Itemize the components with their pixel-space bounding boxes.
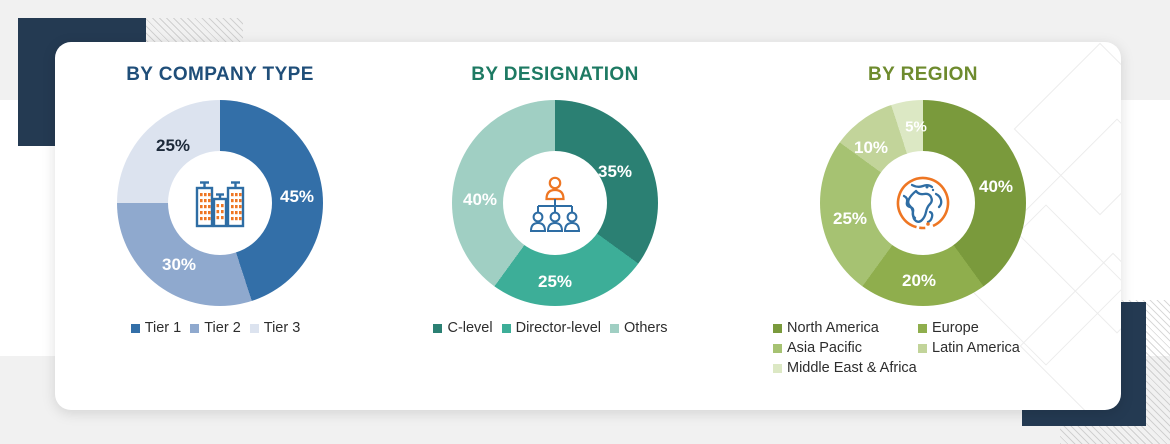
- donut-center-region: [871, 151, 975, 255]
- legend-item-tier1[interactable]: Tier 1: [131, 320, 182, 336]
- chart-title-company-type: BY COMPANY TYPE: [55, 64, 385, 86]
- donut-chart-company-type: 45% 30% 25%: [117, 100, 323, 306]
- legend-label-tier3: Tier 3: [264, 320, 301, 336]
- office-buildings-icon: [189, 172, 251, 234]
- legend-swatch-tier1: [131, 324, 140, 333]
- legend-label-mea: Middle East & Africa: [787, 360, 917, 376]
- donut-chart-region: 40% 20% 25% 10% 5%: [820, 100, 1026, 306]
- legend-item-others[interactable]: Others: [610, 320, 668, 336]
- infographic-canvas: BY COMPANY TYPE: [0, 0, 1170, 444]
- slice-label-director: 25%: [538, 272, 572, 292]
- legend-swatch-tier3: [250, 324, 259, 333]
- legend-label-north-america: North America: [787, 320, 879, 336]
- legend-label-asia-pacific: Asia Pacific: [787, 340, 862, 356]
- legend-item-mea[interactable]: Middle East & Africa: [773, 360, 917, 376]
- slice-label-north-america: 40%: [979, 177, 1013, 197]
- legend-item-latin-america[interactable]: Latin America: [918, 340, 1063, 356]
- legend-item-europe[interactable]: Europe: [918, 320, 1063, 336]
- legend-label-europe: Europe: [932, 320, 979, 336]
- chart-panel-region: BY REGION: [725, 42, 1121, 410]
- charts-card: BY COMPANY TYPE: [55, 42, 1121, 410]
- donut-center-designation: [503, 151, 607, 255]
- slice-label-europe: 20%: [902, 271, 936, 291]
- slice-label-c-level: 35%: [598, 162, 632, 182]
- slice-label-tier2: 30%: [162, 255, 196, 275]
- legend-swatch-north-america: [773, 324, 782, 333]
- donut-chart-designation: 35% 25% 40%: [452, 100, 658, 306]
- legend-label-c-level: C-level: [447, 320, 492, 336]
- legend-region: North America Europe Asia Pacific Latin …: [773, 320, 1073, 380]
- legend-label-others: Others: [624, 320, 668, 336]
- legend-swatch-tier2: [190, 324, 199, 333]
- chart-title-designation: BY DESIGNATION: [385, 64, 725, 86]
- legend-item-tier2[interactable]: Tier 2: [190, 320, 241, 336]
- slice-label-mea: 5%: [905, 119, 927, 136]
- legend-item-north-america[interactable]: North America: [773, 320, 918, 336]
- org-chart-people-icon: [523, 173, 587, 233]
- legend-item-c-level[interactable]: C-level: [433, 320, 492, 336]
- slice-label-tier1: 45%: [280, 187, 314, 207]
- legend-swatch-c-level: [433, 324, 442, 333]
- legend-item-tier3[interactable]: Tier 3: [250, 320, 301, 336]
- legend-designation: C-level Director-level Others: [385, 320, 725, 340]
- legend-swatch-europe: [918, 324, 927, 333]
- legend-label-latin-america: Latin America: [932, 340, 1020, 356]
- legend-label-tier1: Tier 1: [145, 320, 182, 336]
- globe-icon: [892, 172, 954, 234]
- legend-item-director[interactable]: Director-level: [502, 320, 601, 336]
- legend-label-director: Director-level: [516, 320, 601, 336]
- donut-center-company-type: [168, 151, 272, 255]
- chart-panel-company-type: BY COMPANY TYPE: [55, 42, 385, 410]
- slice-label-latin-america: 10%: [854, 138, 888, 158]
- legend-swatch-others: [610, 324, 619, 333]
- slice-label-others: 40%: [463, 190, 497, 210]
- legend-label-tier2: Tier 2: [204, 320, 241, 336]
- slice-label-tier3: 25%: [156, 136, 190, 156]
- charts-row: BY COMPANY TYPE: [55, 42, 1121, 410]
- slice-label-asia-pacific: 25%: [833, 209, 867, 229]
- chart-panel-designation: BY DESIGNATION: [385, 42, 725, 410]
- legend-item-asia-pacific[interactable]: Asia Pacific: [773, 340, 918, 356]
- legend-swatch-director: [502, 324, 511, 333]
- legend-swatch-asia-pacific: [773, 344, 782, 353]
- legend-swatch-latin-america: [918, 344, 927, 353]
- legend-swatch-mea: [773, 364, 782, 373]
- chart-title-region: BY REGION: [725, 64, 1121, 86]
- legend-company-type: Tier 1 Tier 2 Tier 3: [55, 320, 385, 340]
